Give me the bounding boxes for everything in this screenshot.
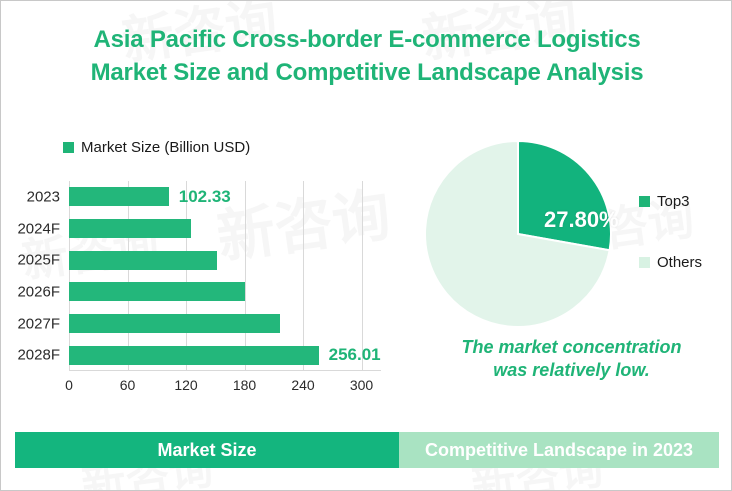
bar-chart-row: 2025F	[69, 251, 381, 270]
page-title: Asia Pacific Cross-border E-commerce Log…	[1, 23, 732, 89]
bar-chart-xtick-label: 120	[174, 377, 197, 393]
bar-chart-bar[interactable]	[69, 219, 191, 238]
annotation-line-1: The market concentration	[429, 336, 714, 359]
page-title-line-1: Asia Pacific Cross-border E-commerce Log…	[1, 23, 732, 56]
bar-chart-bar[interactable]	[69, 251, 217, 270]
bar-chart-xtick-label: 300	[350, 377, 373, 393]
bar-chart-row: 2026F	[69, 282, 381, 301]
bar-chart-axis-line	[69, 370, 381, 371]
bar-chart-gridline	[303, 181, 304, 371]
bar-chart-gridline	[245, 181, 246, 371]
bar-chart-category-label: 2026F	[17, 283, 60, 300]
bar-chart-category-label: 2024F	[17, 220, 60, 237]
bar-chart-plot-area: 0601201802403002023102.332024F2025F2026F…	[69, 181, 381, 371]
pie-legend-label-top3: Top3	[657, 193, 690, 210]
bar-chart-value-label: 256.01	[329, 345, 381, 365]
bar-chart-row: 2027F	[69, 314, 381, 333]
annotation-line-2: was relatively low.	[429, 359, 714, 382]
tab-competitive-landscape[interactable]: Competitive Landscape in 2023	[399, 432, 719, 468]
bar-chart-category-label: 2025F	[17, 252, 60, 269]
bar-chart-gridline	[362, 181, 363, 371]
market-size-bar-chart: Market Size (Billion USD) 06012018024030…	[1, 131, 401, 396]
pie-data-label-top3: 27.80%	[544, 207, 619, 233]
bar-chart-bar[interactable]	[69, 187, 169, 206]
page-title-line-2: Market Size and Competitive Landscape An…	[1, 56, 732, 89]
bar-chart-gridline	[69, 181, 70, 371]
bar-chart-value-label: 102.33	[179, 187, 231, 207]
bar-chart-category-label: 2028F	[17, 347, 60, 364]
pie-slice-top3[interactable]	[518, 141, 611, 250]
legend-swatch-icon	[639, 196, 650, 207]
bar-chart-row: 2023102.33	[69, 187, 381, 206]
bar-chart-xtick-label: 60	[120, 377, 136, 393]
bar-chart-row: 2024F	[69, 219, 381, 238]
pie-legend-label-others: Others	[657, 254, 702, 271]
bar-chart-legend: Market Size (Billion USD)	[63, 139, 250, 156]
pie-legend-item-others[interactable]: Others	[639, 254, 732, 271]
bar-chart-bar[interactable]	[69, 282, 245, 301]
bar-chart-gridline	[186, 181, 187, 371]
pie-svg	[423, 139, 613, 329]
legend-swatch-icon	[63, 142, 74, 153]
legend-swatch-icon	[639, 257, 650, 268]
bar-chart-xtick-label: 180	[233, 377, 256, 393]
bar-chart-gridline	[128, 181, 129, 371]
bar-chart-xtick-label: 0	[65, 377, 73, 393]
bottom-tab-bar: Market Size Competitive Landscape in 202…	[15, 432, 719, 468]
tab-market-size[interactable]: Market Size	[15, 432, 399, 468]
bar-chart-xtick-label: 240	[291, 377, 314, 393]
market-concentration-annotation: The market concentration was relatively …	[429, 336, 714, 382]
pie-chart-legend: Top3 Others	[639, 193, 732, 315]
competitive-landscape-pie-chart: 27.80% Top3 Others The market concentrat…	[401, 131, 732, 396]
bar-chart-bar[interactable]	[69, 346, 319, 365]
bar-chart-bar[interactable]	[69, 314, 280, 333]
bar-chart-category-label: 2027F	[17, 315, 60, 332]
pie-legend-item-top3[interactable]: Top3	[639, 193, 732, 210]
infographic-page: 新咨询 新咨询 新咨询 新咨询 新咨询 新咨询 新咨询 Asia Pacific…	[0, 0, 732, 491]
bar-chart-category-label: 2023	[27, 188, 60, 205]
bar-chart-legend-label: Market Size (Billion USD)	[81, 139, 250, 156]
bar-chart-row: 2028F256.01	[69, 346, 381, 365]
